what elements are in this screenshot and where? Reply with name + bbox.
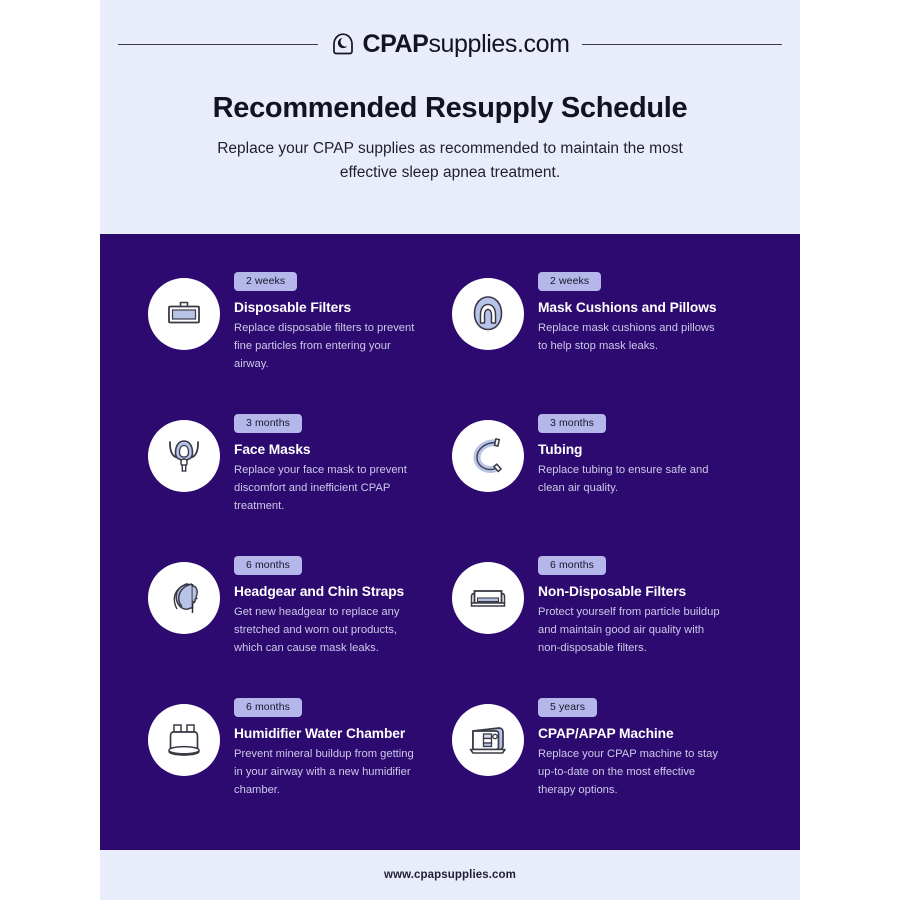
headgear-icon (148, 562, 220, 634)
item-description: Prevent mineral buildup from getting in … (234, 745, 420, 799)
mask-cushion-icon (452, 278, 524, 350)
non-disposable-filter-icon (452, 562, 524, 634)
item-body: 2 weeks Mask Cushions and Pillows Replac… (538, 270, 756, 355)
brand-row: CPAPsupplies.com (100, 22, 800, 66)
interval-badge: 2 weeks (234, 272, 297, 291)
schedule-item: 6 months Humidifier Water Chamber Preven… (148, 696, 452, 816)
item-body: 6 months Non-Disposable Filters Protect … (538, 554, 756, 657)
interval-badge: 2 weeks (538, 272, 601, 291)
item-title: Disposable Filters (234, 300, 452, 315)
item-description: Protect yourself from particle buildup a… (538, 603, 724, 657)
item-body: 3 months Tubing Replace tubing to ensure… (538, 412, 756, 497)
interval-badge: 3 months (234, 414, 302, 433)
tubing-icon (452, 420, 524, 492)
disposable-filter-icon (148, 278, 220, 350)
item-body: 2 weeks Disposable Filters Replace dispo… (234, 270, 452, 373)
header-section: CPAPsupplies.com Recommended Resupply Sc… (100, 0, 800, 234)
item-title: Mask Cushions and Pillows (538, 300, 756, 315)
item-body: 3 months Face Masks Replace your face ma… (234, 412, 452, 515)
item-title: Headgear and Chin Straps (234, 584, 452, 599)
item-title: Humidifier Water Chamber (234, 726, 452, 741)
interval-badge: 6 months (538, 556, 606, 575)
item-description: Get new headgear to replace any stretche… (234, 603, 420, 657)
item-title: CPAP/APAP Machine (538, 726, 756, 741)
schedule-grid: 2 weeks Disposable Filters Replace dispo… (100, 270, 800, 816)
footer-section: www.cpapsupplies.com (100, 850, 800, 900)
schedule-item: 6 months Non-Disposable Filters Protect … (452, 554, 756, 674)
content-column: CPAPsupplies.com Recommended Resupply Sc… (100, 0, 800, 900)
schedule-item: 6 months Headgear and Chin Straps Get ne… (148, 554, 452, 674)
brand-rule-left (118, 44, 318, 45)
schedule-item: 2 weeks Mask Cushions and Pillows Replac… (452, 270, 756, 390)
brand-logo-lockup[interactable]: CPAPsupplies.com (318, 31, 581, 57)
infographic-page: CPAPsupplies.com Recommended Resupply Sc… (0, 0, 900, 900)
page-title: Recommended Resupply Schedule (100, 92, 800, 125)
schedule-item: 5 years CPAP/APAP Machine Replace your C… (452, 696, 756, 816)
item-description: Replace tubing to ensure safe and clean … (538, 461, 724, 497)
item-description: Replace mask cushions and pillows to hel… (538, 319, 724, 355)
schedule-item: 3 months Tubing Replace tubing to ensure… (452, 412, 756, 532)
item-body: 5 years CPAP/APAP Machine Replace your C… (538, 696, 756, 799)
brand-name-light: supplies.com (428, 30, 569, 58)
footer-website-link[interactable]: www.cpapsupplies.com (384, 869, 516, 881)
item-title: Tubing (538, 442, 756, 457)
interval-badge: 3 months (538, 414, 606, 433)
brand-name-bold: CPAP (362, 30, 428, 58)
interval-badge: 6 months (234, 556, 302, 575)
brand-name: CPAPsupplies.com (362, 32, 569, 57)
item-body: 6 months Headgear and Chin Straps Get ne… (234, 554, 452, 657)
item-title: Face Masks (234, 442, 452, 457)
item-description: Replace your CPAP machine to stay up-to-… (538, 745, 724, 799)
schedule-section: 2 weeks Disposable Filters Replace dispo… (100, 234, 800, 850)
humidifier-chamber-icon (148, 704, 220, 776)
interval-badge: 5 years (538, 698, 597, 717)
brand-rule-right (582, 44, 782, 45)
schedule-item: 3 months Face Masks Replace your face ma… (148, 412, 452, 532)
moon-mask-logo-icon (330, 31, 356, 57)
item-description: Replace disposable filters to prevent fi… (234, 319, 420, 373)
item-body: 6 months Humidifier Water Chamber Preven… (234, 696, 452, 799)
item-description: Replace your face mask to prevent discom… (234, 461, 420, 515)
interval-badge: 6 months (234, 698, 302, 717)
item-title: Non-Disposable Filters (538, 584, 756, 599)
page-subtitle: Replace your CPAP supplies as recommende… (190, 137, 710, 185)
face-mask-icon (148, 420, 220, 492)
schedule-item: 2 weeks Disposable Filters Replace dispo… (148, 270, 452, 390)
cpap-machine-icon (452, 704, 524, 776)
